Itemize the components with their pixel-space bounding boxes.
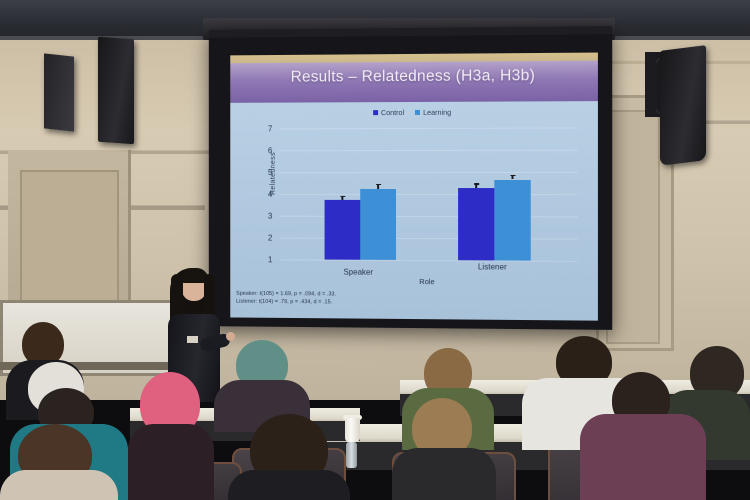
torso xyxy=(228,470,350,500)
bar-listener-control xyxy=(458,188,494,261)
legend-item-control: Control xyxy=(373,108,404,117)
x-category-speaker: Speaker xyxy=(327,268,391,277)
door-right-panel xyxy=(606,110,660,344)
water-bottle xyxy=(346,442,357,468)
slide-body: Control Learning Relatedness 7 6 5 4 3 2 xyxy=(230,101,598,321)
legend-label-learning: Learning xyxy=(423,108,451,117)
lecture-hall-scene: Results – Relatedness (H3a, H3b) Control… xyxy=(0,0,750,500)
speaker-left xyxy=(98,37,134,145)
bar-speaker-control xyxy=(325,200,361,260)
chart-legend: Control Learning xyxy=(230,107,598,117)
torso xyxy=(128,424,214,500)
y-tick-4: 4 xyxy=(261,190,273,199)
legend-item-learning: Learning xyxy=(415,108,451,117)
bar-chart: Relatedness 7 6 5 4 3 2 1 xyxy=(273,121,583,283)
y-tick-5: 5 xyxy=(261,168,273,177)
bar-speaker-learning xyxy=(360,189,396,260)
y-tick-1: 1 xyxy=(261,255,273,264)
torso xyxy=(580,414,706,500)
y-tick-3: 3 xyxy=(261,212,273,221)
error-bar-cap xyxy=(474,183,479,184)
legend-label-control: Control xyxy=(381,108,404,117)
y-tick-7: 7 xyxy=(261,124,273,133)
slide-title: Results – Relatedness (H3a, H3b) xyxy=(230,67,598,87)
legend-swatch-learning xyxy=(415,110,420,115)
bar-group xyxy=(273,121,583,261)
legend-swatch-control xyxy=(373,110,378,115)
stat-line-listener: Listener: t(104) = .79, p = .434, d = .1… xyxy=(236,299,332,308)
error-bar-cap xyxy=(510,175,515,176)
error-bar-cap xyxy=(376,184,381,185)
presentation-slide: Results – Relatedness (H3a, H3b) Control… xyxy=(230,53,598,321)
speaker-left-small xyxy=(44,53,74,131)
y-tick-6: 6 xyxy=(261,146,273,155)
coffee-cup xyxy=(345,418,360,442)
speaker-right xyxy=(660,45,706,166)
x-axis-title: Role xyxy=(273,276,583,287)
presenter-badge xyxy=(187,336,198,343)
error-bar-cap xyxy=(340,196,345,197)
presenter-hand xyxy=(226,332,235,341)
projector-screen: Results – Relatedness (H3a, H3b) Control… xyxy=(209,26,612,330)
x-category-listener: Listener xyxy=(460,262,525,271)
torso xyxy=(0,470,118,500)
y-tick-2: 2 xyxy=(261,233,273,242)
torso xyxy=(392,448,496,500)
bar-listener-learning xyxy=(494,180,530,261)
